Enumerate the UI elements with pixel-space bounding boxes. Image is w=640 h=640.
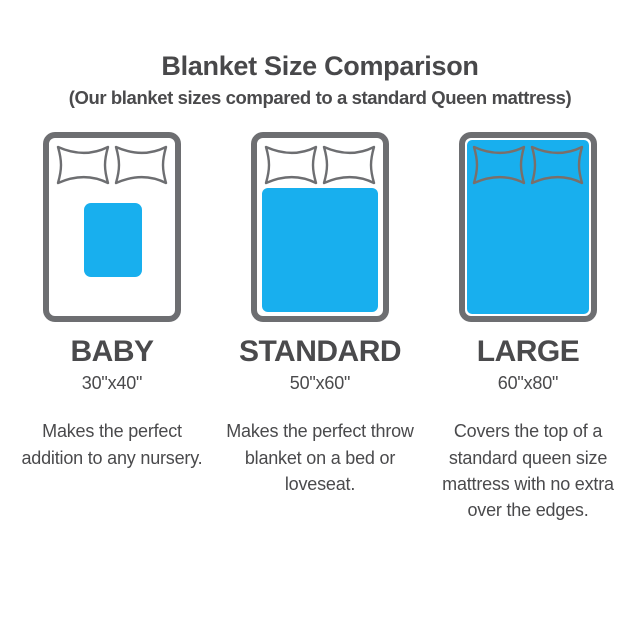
bed-illustration-icon (42, 131, 182, 323)
infographic-page: Blanket Size Comparison (Our blanket siz… (0, 0, 640, 640)
comparison-columns: BABY 30"x40" Makes the perfect addition … (0, 131, 640, 523)
blanket-overlay-baby (84, 203, 142, 277)
size-dimensions-large: 60"x80" (498, 374, 558, 392)
size-dimensions-standard: 50"x60" (290, 374, 350, 392)
bed-diagram-standard (250, 131, 390, 323)
product-column-baby: BABY 30"x40" Makes the perfect addition … (8, 131, 216, 523)
size-name-standard: STANDARD (239, 337, 401, 367)
blanket-overlay-large (467, 140, 589, 314)
size-description-standard: Makes the perfect throw blanket on a bed… (225, 418, 415, 497)
size-dimensions-baby: 30"x40" (82, 374, 142, 392)
bed-diagram-large (458, 131, 598, 323)
product-column-large: LARGE 60"x80" Covers the top of a standa… (424, 131, 632, 523)
bed-illustration-icon (250, 131, 390, 323)
pillow-left-icon (58, 147, 108, 183)
bed-diagram-baby (42, 131, 182, 323)
size-description-large: Covers the top of a standard queen size … (433, 418, 623, 523)
header: Blanket Size Comparison (Our blanket siz… (0, 0, 640, 109)
bed-illustration-icon (458, 131, 598, 323)
pillow-right-icon (324, 147, 374, 183)
size-description-baby: Makes the perfect addition to any nurser… (17, 418, 207, 471)
size-name-baby: BABY (70, 337, 153, 367)
page-subtitle: (Our blanket sizes compared to a standar… (0, 87, 640, 109)
pillow-right-icon (116, 147, 166, 183)
product-column-standard: STANDARD 50"x60" Makes the perfect throw… (216, 131, 424, 523)
pillow-left-icon (266, 147, 316, 183)
blanket-overlay-standard (262, 188, 378, 312)
size-name-large: LARGE (477, 337, 580, 367)
page-title: Blanket Size Comparison (0, 52, 640, 80)
